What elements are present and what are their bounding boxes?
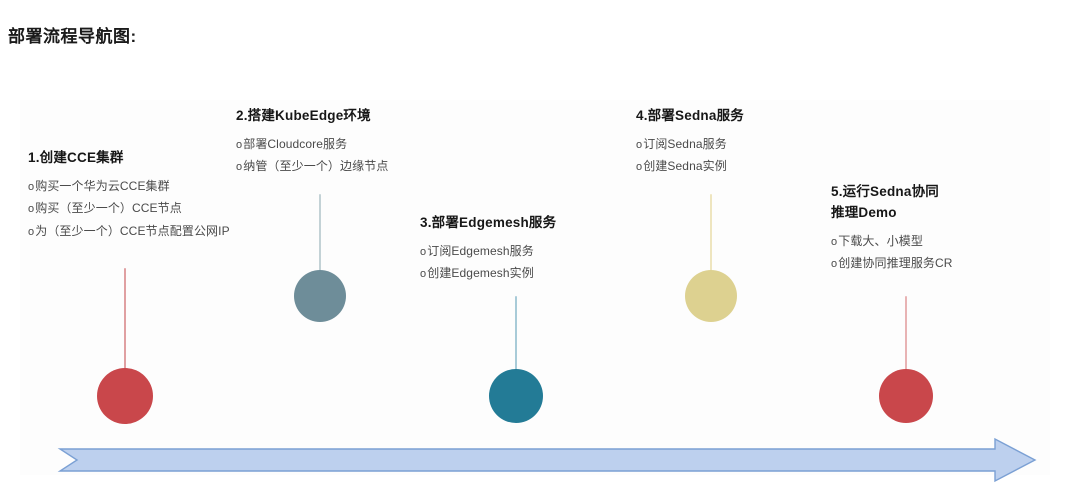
bullet-text: 为（至少一个）CCE节点配置公网IP (35, 224, 229, 238)
step-bullet-item: o创建Edgemesh实例 (420, 262, 630, 284)
bullet-marker-icon: o (636, 161, 642, 173)
step-bullet-item: o购买（至少一个）CCE节点 (28, 197, 238, 219)
bullet-text: 购买一个华为云CCE集群 (35, 179, 170, 193)
timeline-arrow-shape (20, 437, 1045, 483)
step-bullet-list-3: o订阅Edgemesh服务o创建Edgemesh实例 (420, 240, 630, 285)
bullet-text: 下载大、小模型 (838, 234, 923, 248)
step-bullet-item: o订阅Edgemesh服务 (420, 240, 630, 262)
bullet-marker-icon: o (28, 203, 34, 215)
step-block-1: 1.创建CCE集群o购买一个华为云CCE集群o购买（至少一个）CCE节点o为（至… (28, 148, 238, 242)
bullet-text: 创建协同推理服务CR (838, 256, 952, 270)
step-title-1: 1.创建CCE集群 (28, 148, 238, 169)
step-title-3: 3.部署Edgemesh服务 (420, 213, 630, 234)
step-bullet-item: o下载大、小模型 (831, 230, 1041, 252)
timeline-arrow (20, 437, 1045, 483)
step-block-3: 3.部署Edgemesh服务o订阅Edgemesh服务o创建Edgemesh实例 (420, 213, 630, 285)
bullet-marker-icon: o (831, 236, 837, 248)
bullet-text: 订阅Edgemesh服务 (427, 244, 534, 258)
bullet-marker-icon: o (420, 268, 426, 280)
deployment-roadmap-diagram: 1.创建CCE集群o购买一个华为云CCE集群o购买（至少一个）CCE节点o为（至… (20, 100, 1050, 475)
step-block-2: 2.搭建KubeEdge环境o部署Cloudcore服务o纳管（至少一个）边缘节… (236, 106, 446, 178)
bullet-marker-icon: o (831, 258, 837, 270)
bullet-text: 购买（至少一个）CCE节点 (35, 201, 182, 215)
step-title-5: 5.运行Sedna协同 推理Demo (831, 182, 1041, 224)
page-title: 部署流程导航图: (8, 22, 137, 47)
step-title-4: 4.部署Sedna服务 (636, 106, 846, 127)
step-node-circle-3[interactable] (489, 369, 543, 423)
step-bullet-item: o购买一个华为云CCE集群 (28, 175, 238, 197)
step-bullet-list-4: o订阅Sedna服务o创建Sedna实例 (636, 133, 846, 178)
step-node-circle-5[interactable] (879, 369, 933, 423)
bullet-marker-icon: o (420, 246, 426, 258)
bullet-marker-icon: o (28, 226, 34, 238)
step-bullet-item: o创建协同推理服务CR (831, 252, 1041, 274)
step-bullet-item: o纳管（至少一个）边缘节点 (236, 155, 446, 177)
step-node-circle-1[interactable] (97, 368, 153, 424)
step-node-circle-4[interactable] (685, 270, 737, 322)
bullet-marker-icon: o (636, 139, 642, 151)
bullet-text: 订阅Sedna服务 (643, 137, 727, 151)
bullet-marker-icon: o (236, 161, 242, 173)
step-bullet-item: o部署Cloudcore服务 (236, 133, 446, 155)
bullet-text: 纳管（至少一个）边缘节点 (243, 159, 388, 173)
bullet-text: 创建Edgemesh实例 (427, 266, 534, 280)
bullet-marker-icon: o (236, 139, 242, 151)
bullet-text: 部署Cloudcore服务 (243, 137, 347, 151)
step-bullet-list-2: o部署Cloudcore服务o纳管（至少一个）边缘节点 (236, 133, 446, 178)
bullet-text: 创建Sedna实例 (643, 159, 727, 173)
step-block-4: 4.部署Sedna服务o订阅Sedna服务o创建Sedna实例 (636, 106, 846, 178)
step-bullet-item: o创建Sedna实例 (636, 155, 846, 177)
step-bullet-list-5: o下载大、小模型o创建协同推理服务CR (831, 230, 1041, 275)
step-bullet-item: o为（至少一个）CCE节点配置公网IP (28, 220, 238, 242)
step-block-5: 5.运行Sedna协同 推理Demoo下载大、小模型o创建协同推理服务CR (831, 182, 1041, 275)
step-bullet-item: o订阅Sedna服务 (636, 133, 846, 155)
step-node-circle-2[interactable] (294, 270, 346, 322)
bullet-marker-icon: o (28, 181, 34, 193)
step-title-2: 2.搭建KubeEdge环境 (236, 106, 446, 127)
step-bullet-list-1: o购买一个华为云CCE集群o购买（至少一个）CCE节点o为（至少一个）CCE节点… (28, 175, 238, 242)
